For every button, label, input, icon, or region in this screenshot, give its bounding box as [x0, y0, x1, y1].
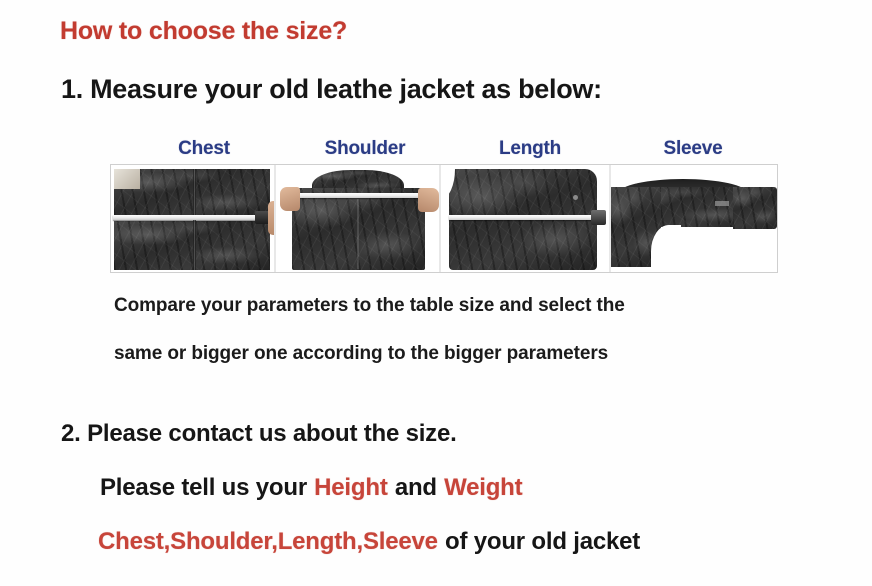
- step-2-heading: 2. Please contact us about the size.: [61, 420, 457, 448]
- compare-line-2: same or bigger one according to the bigg…: [114, 342, 834, 390]
- height-keyword: Height: [314, 474, 387, 501]
- hand-left: [280, 187, 300, 211]
- chest-photo: [111, 165, 276, 272]
- measurement-photo-strip: [110, 164, 778, 273]
- page-title: How to choose the size?: [60, 17, 347, 46]
- compare-line-1: Compare your parameters to the table siz…: [114, 294, 834, 342]
- chest-label: Chest: [178, 138, 230, 160]
- shoulder-label: Shoulder: [325, 138, 406, 160]
- snap-button: [573, 195, 578, 200]
- sleeve-fold: [651, 225, 681, 269]
- measuring-tape: [449, 215, 597, 220]
- weight-keyword: Weight: [444, 474, 522, 501]
- length-photo: [441, 165, 611, 272]
- size-guide-page: How to choose the size? 1. Measure your …: [0, 0, 872, 586]
- tape-measure-case: [591, 210, 606, 225]
- jacket-cuff: [733, 187, 777, 229]
- cuff-snap: [772, 189, 777, 197]
- tell-us-prefix: Please tell us your: [100, 474, 307, 501]
- tell-us-line: Please tell us yourHeightandWeight: [100, 474, 522, 502]
- hand-right: [418, 188, 439, 212]
- tell-us-conjunction: and: [395, 474, 437, 501]
- sleeve-label: Sleeve: [663, 138, 722, 160]
- measurement-keywords: Chest,Shoulder,Length,Sleeve: [98, 528, 438, 555]
- measuring-tape: [113, 215, 265, 220]
- brand-tag: [715, 201, 729, 206]
- center-seam: [357, 199, 359, 269]
- measures-line: Chest,Shoulder,Length,Sleeveof your old …: [98, 528, 640, 556]
- jacket-front-lower: [114, 221, 270, 270]
- step-1-heading: 1. Measure your old leathe jacket as bel…: [61, 74, 602, 105]
- compare-instructions: Compare your parameters to the table siz…: [114, 294, 834, 390]
- hand: [268, 201, 276, 235]
- length-label: Length: [499, 138, 561, 160]
- measuring-tape: [294, 193, 424, 198]
- measures-suffix: of your old jacket: [445, 528, 640, 555]
- photo-highlight: [114, 169, 140, 189]
- shoulder-photo: [276, 165, 441, 272]
- sleeve-photo: [611, 165, 777, 272]
- measurement-labels-row: Chest Shoulder Length Sleeve: [110, 138, 778, 164]
